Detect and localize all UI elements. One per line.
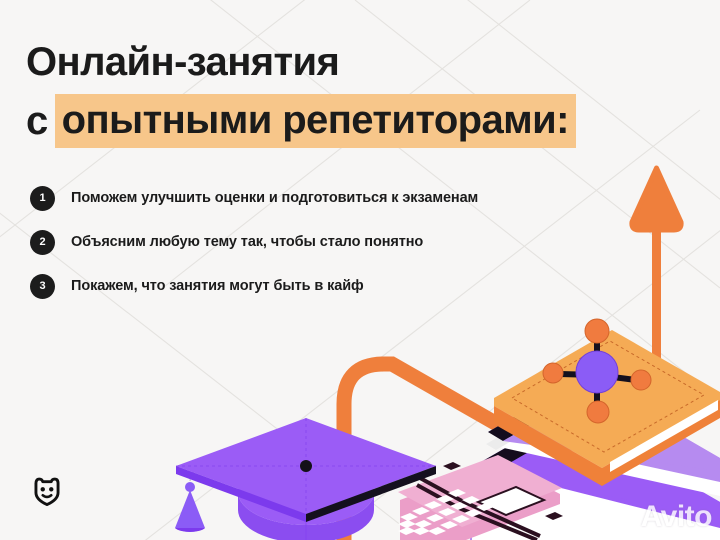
- list-item: 1 Поможем улучшить оценки и подготовитьс…: [30, 176, 630, 220]
- book-orange: [494, 330, 720, 486]
- avito-watermark: Avito: [605, 500, 712, 534]
- molecule-icon: [543, 319, 651, 423]
- list-item-label: Покажем, что занятия могут быть в кайф: [71, 278, 364, 294]
- list-item-label: Объясним любую тему так, чтобы стало пон…: [71, 234, 423, 250]
- list-item-badge: 3: [30, 274, 55, 299]
- bear-head-logo-icon: [30, 474, 64, 508]
- avito-dots-icon: [605, 500, 639, 534]
- poster-canvas: Онлайн-занятия с опытными репетиторами: …: [0, 0, 720, 540]
- headline-prefix: с: [26, 97, 55, 145]
- headline-line-1: Онлайн-занятия: [26, 38, 686, 86]
- calculator-icon: [398, 455, 563, 540]
- list-item-badge: 1: [30, 186, 55, 211]
- list-item: 2 Объясним любую тему так, чтобы стало п…: [30, 220, 630, 264]
- headline-block: Онлайн-занятия с опытными репетиторами:: [26, 38, 686, 148]
- headline-highlight: опытными репетиторами:: [55, 94, 576, 148]
- benefits-list: 1 Поможем улучшить оценки и подготовитьс…: [30, 176, 630, 308]
- book-white-1: [486, 391, 720, 496]
- graduation-cap-icon: [175, 418, 436, 540]
- headline-line-2: с опытными репетиторами:: [26, 94, 686, 148]
- up-arrow-icon: [632, 168, 681, 540]
- list-item-badge: 2: [30, 230, 55, 255]
- avito-wordmark: Avito: [641, 500, 712, 534]
- list-item-label: Поможем улучшить оценки и подготовиться …: [71, 190, 478, 206]
- book-lilac-1: [488, 378, 720, 482]
- list-item: 3 Покажем, что занятия могут быть в кайф: [30, 264, 630, 308]
